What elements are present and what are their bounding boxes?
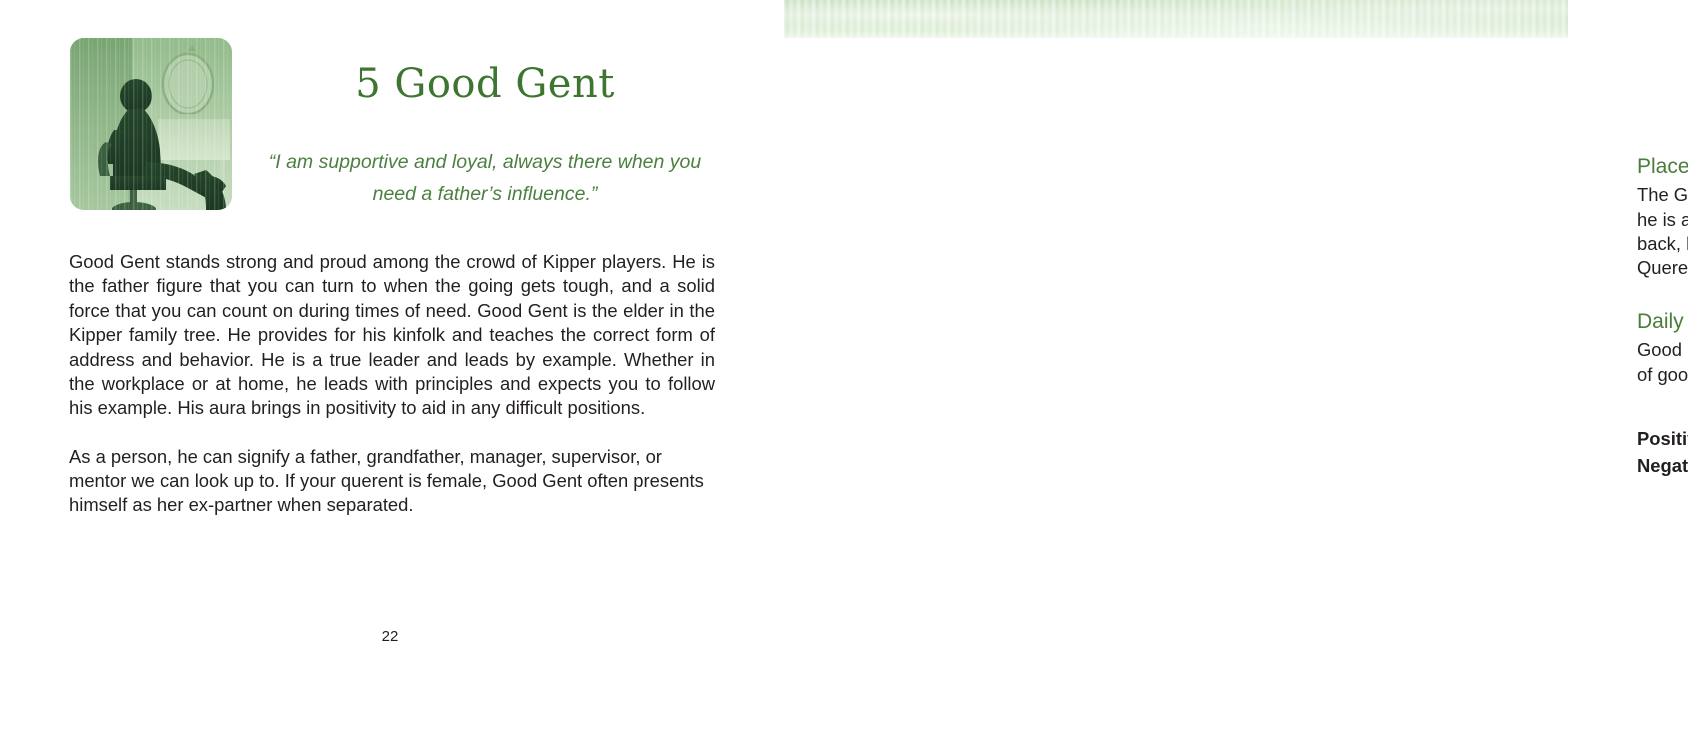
left-page: 5 Good Gent “I am supportive and loyal, … <box>0 0 784 731</box>
body-paragraph-2: As a person, he can signify a father, gr… <box>69 445 715 518</box>
section-body-daily-advice: Good Gent brings support and stability i… <box>1637 338 1688 387</box>
positive-aura-line: Positive Aura: Good News, Positivity, Le… <box>1637 425 1688 452</box>
good-gent-card-illustration <box>70 38 232 210</box>
right-page: Placement The Good Gent card is a positi… <box>784 0 1688 731</box>
negative-aura-label: Negative Aura <box>1637 455 1688 476</box>
right-page-body: Placement The Good Gent card is a positi… <box>1637 153 1688 479</box>
left-page-body: Good Gent stands strong and proud among … <box>69 250 715 518</box>
body-paragraph-1: Good Gent stands strong and proud among … <box>69 250 715 421</box>
section-spacer <box>1637 281 1688 308</box>
negative-aura-line: Negative Aura: Negative News, Unsupporti… <box>1637 452 1688 479</box>
section-heading-placement: Placement <box>1637 153 1688 181</box>
section-body-placement: The Good Gent card is a positive card by… <box>1637 183 1688 281</box>
aura-spacer <box>1637 387 1688 425</box>
page-number-left: 22 <box>340 628 440 645</box>
card-quote: “I am supportive and loyal, always there… <box>262 147 708 210</box>
top-banner-decoration <box>784 0 1568 38</box>
positive-aura-label: Positive Aura <box>1637 428 1688 449</box>
page-title: 5 Good Gent <box>250 62 720 106</box>
section-heading-daily-advice: Daily Advice <box>1637 308 1688 336</box>
book-spread: 5 Good Gent “I am supportive and loyal, … <box>0 0 1688 731</box>
